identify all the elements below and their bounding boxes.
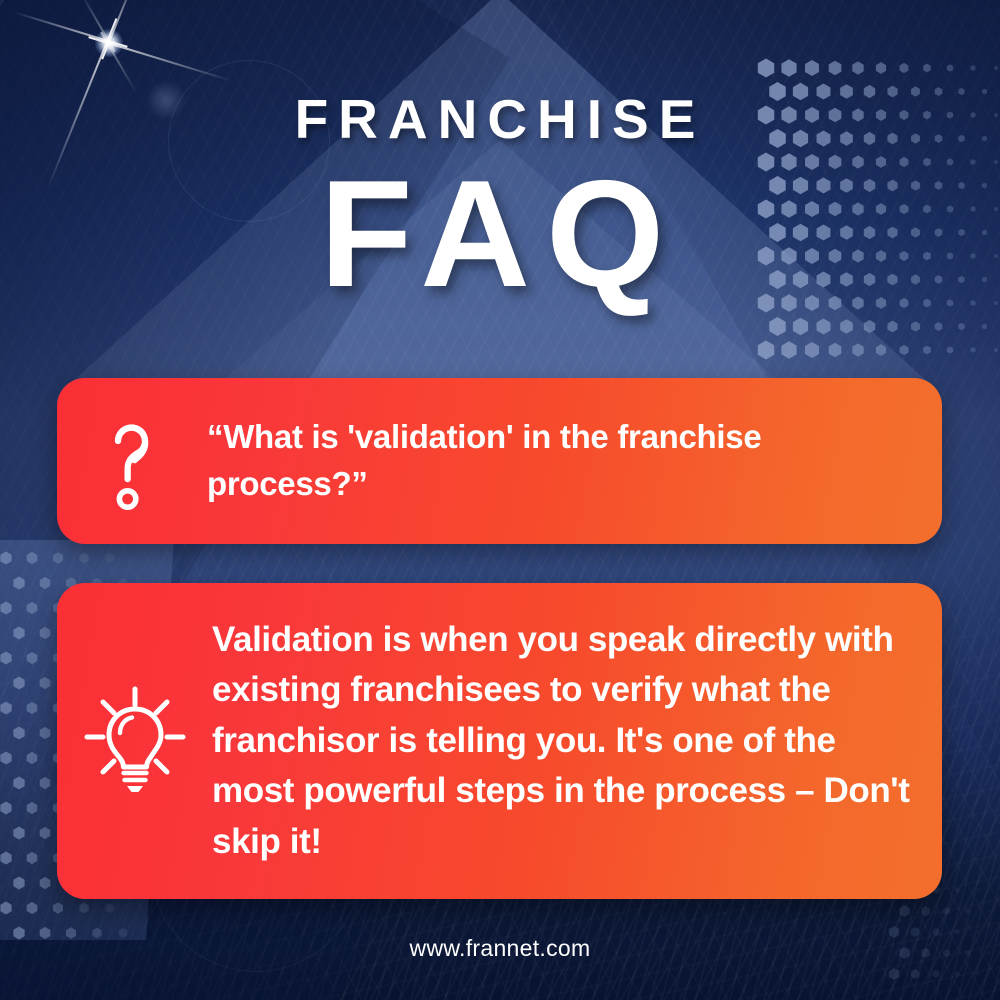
question-card[interactable]: “What is 'validation' in the franchise p…: [57, 378, 942, 544]
lightbulb-icon: [57, 685, 212, 797]
answer-card[interactable]: Validation is when you speak directly wi…: [57, 583, 942, 899]
page-title-top: FRANCHISE: [0, 92, 1000, 147]
page-title-main: FAQ: [0, 157, 1000, 312]
poster-header: FRANCHISE FAQ: [0, 92, 1000, 312]
answer-text: Validation is when you speak directly wi…: [212, 615, 942, 867]
website-url[interactable]: www.frannet.com: [410, 935, 591, 961]
question-mark-icon: [57, 407, 207, 515]
faq-poster: FRANCHISE FAQ “What is 'validation' in t…: [0, 0, 1000, 1000]
poster-footer: www.frannet.com: [0, 935, 1000, 962]
lens-flare-star-icon: [108, 42, 110, 44]
question-text: “What is 'validation' in the franchise p…: [207, 414, 942, 508]
